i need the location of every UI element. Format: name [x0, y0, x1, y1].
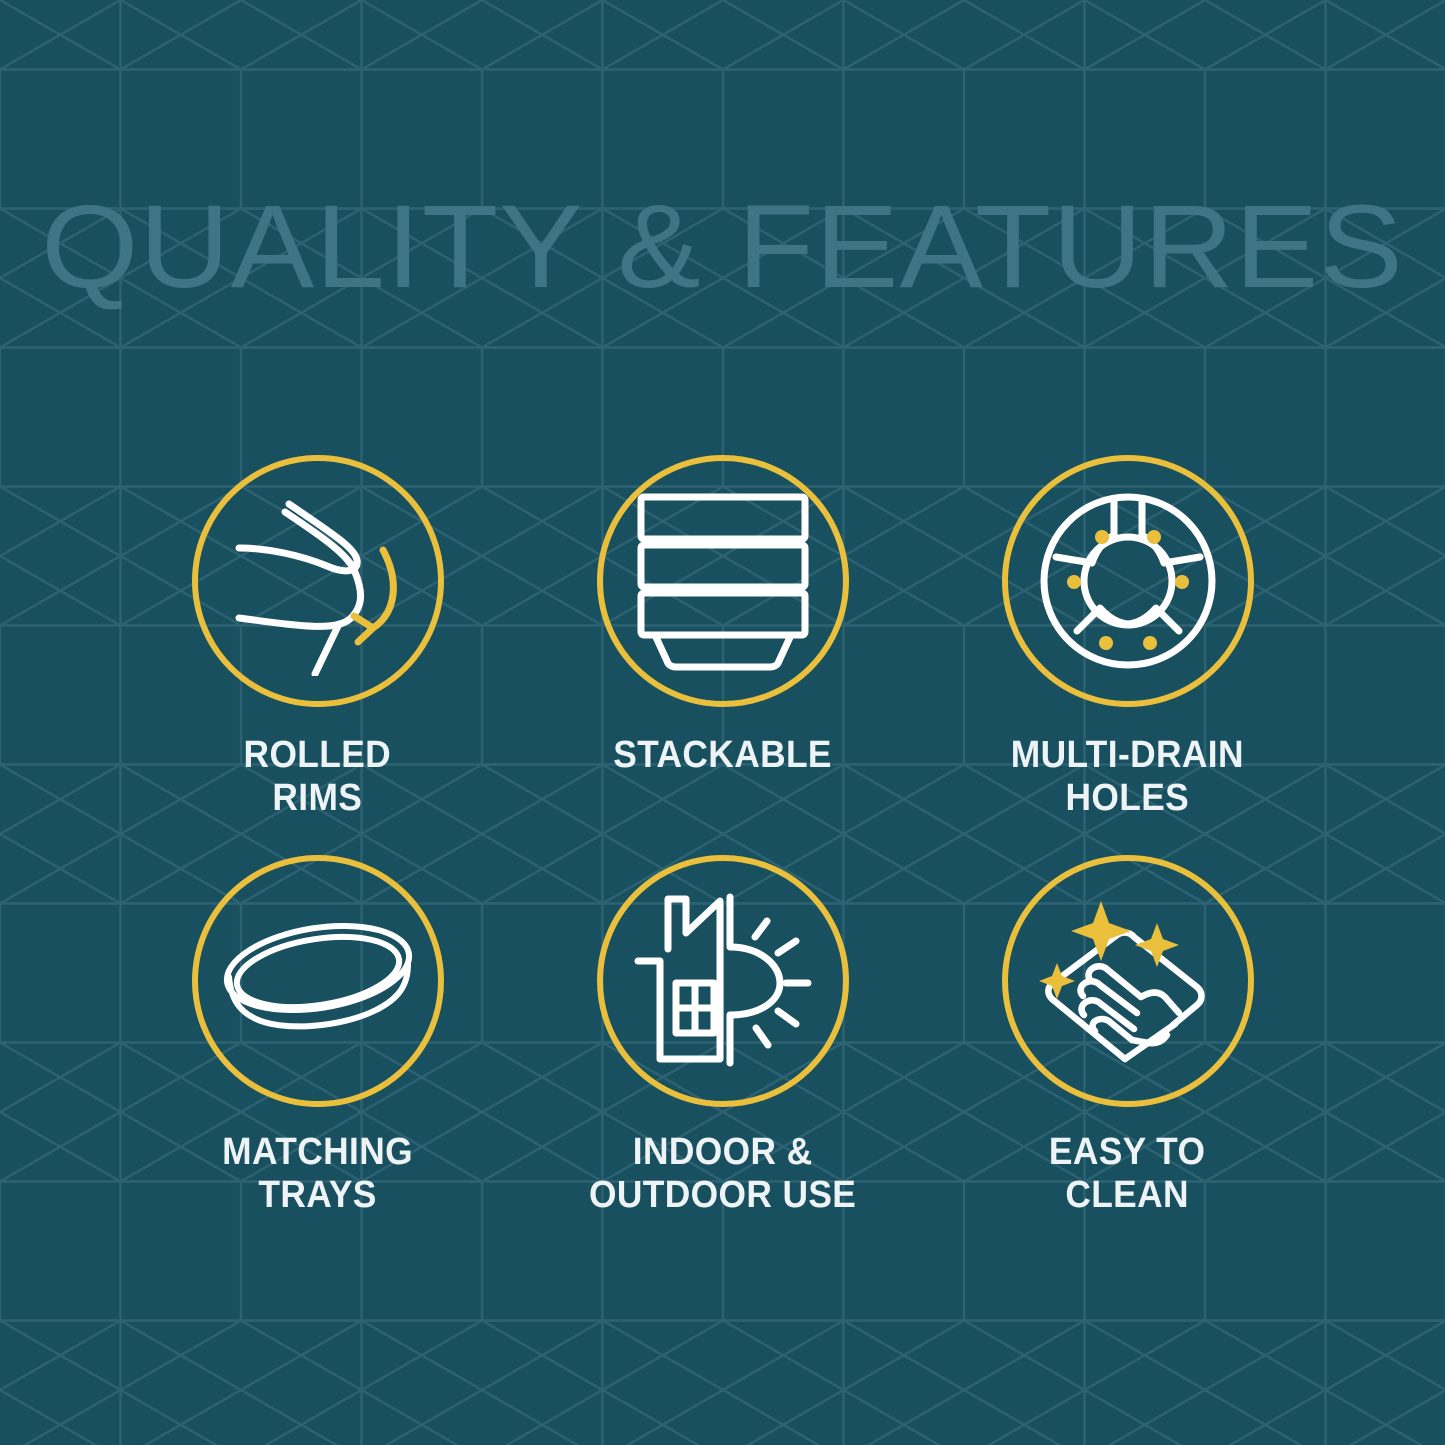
feature-item-stackable: STACKABLE [520, 455, 925, 855]
feature-label: INDOOR & OUTDOOR USE [589, 1131, 856, 1216]
feature-item-indoor-outdoor-use: INDOOR & OUTDOOR USE [520, 855, 925, 1255]
stacked-pots-icon [635, 491, 811, 671]
rolled-rim-cross-section-icon [223, 486, 413, 676]
house-and-sun-icon [630, 891, 816, 1071]
feature-item-rolled-rims: ROLLED RIMS [115, 455, 520, 855]
pot-base-drain-holes-icon [1038, 491, 1218, 671]
feature-label: ROLLED RIMS [244, 734, 392, 819]
icon-badge [1002, 455, 1254, 707]
feature-item-matching-trays: MATCHING TRAYS [115, 855, 520, 1255]
hand-wiping-cloth-sparkle-icon [1033, 891, 1223, 1071]
feature-label: EASY TO CLEAN [1049, 1131, 1205, 1216]
page-title: QUALITY & FEATURES [0, 188, 1445, 306]
feature-item-easy-to-clean: EASY TO CLEAN [925, 855, 1330, 1255]
oval-saucer-tray-icon [218, 906, 418, 1056]
icon-badge [597, 455, 849, 707]
feature-grid: ROLLED RIMS STACKABLE [115, 455, 1330, 1255]
feature-label: MULTI-DRAIN HOLES [1011, 734, 1244, 819]
feature-item-multi-drain-holes: MULTI-DRAIN HOLES [925, 455, 1330, 855]
icon-badge [192, 855, 444, 1107]
feature-label: STACKABLE [613, 734, 832, 777]
sparkles [1039, 901, 1179, 999]
feature-infographic: QUALITY & FEATURES ROLLED RIMS [0, 0, 1445, 1445]
icon-badge [1002, 855, 1254, 1107]
feature-label: MATCHING TRAYS [222, 1131, 413, 1216]
icon-badge [597, 855, 849, 1107]
icon-badge [192, 455, 444, 707]
